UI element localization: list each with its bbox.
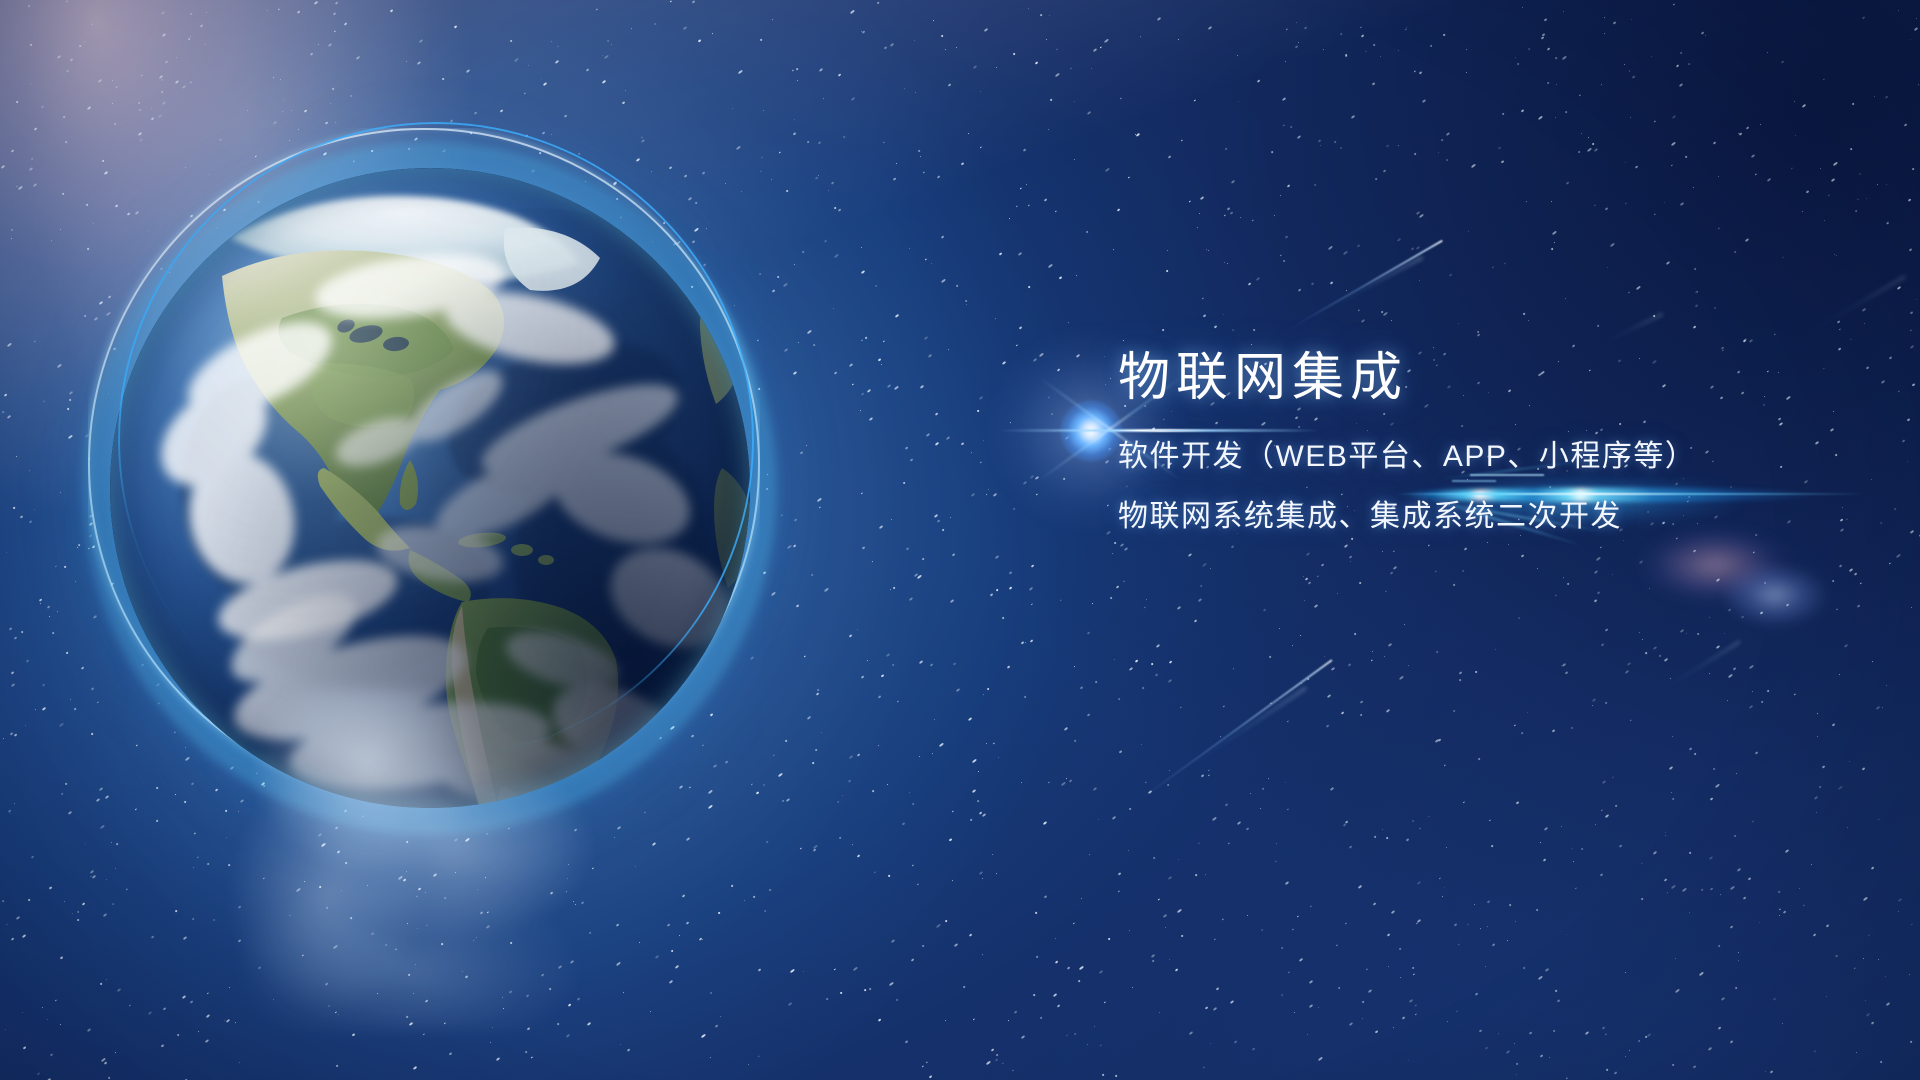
subtitle-line-1: 软件开发（WEB平台、APP、小程序等）	[1118, 442, 1838, 472]
iot-integration-hero-banner: 物联网集成 软件开发（WEB平台、APP、小程序等） 物联网系统集成、集成系统二…	[0, 0, 1920, 1080]
warm-magenta-flare-2	[1700, 540, 1850, 650]
meteor-streak	[1316, 256, 1423, 315]
page-title: 物联网集成	[1118, 352, 1838, 404]
meteor-streak	[1809, 275, 1906, 333]
hero-text-block: 物联网集成 软件开发（WEB平台、APP、小程序等） 物联网系统集成、集成系统二…	[1118, 352, 1838, 532]
subtitle-line-2: 物联网系统集成、集成系统二次开发	[1118, 502, 1838, 532]
meteor-streak	[1290, 240, 1443, 329]
cloud-vapor-reflection	[150, 690, 670, 1030]
meteor-streak	[1181, 686, 1307, 772]
meteor-streak	[1137, 659, 1332, 802]
inner-blue-orbit-ring	[118, 122, 754, 758]
meteor-streak	[1599, 312, 1663, 345]
